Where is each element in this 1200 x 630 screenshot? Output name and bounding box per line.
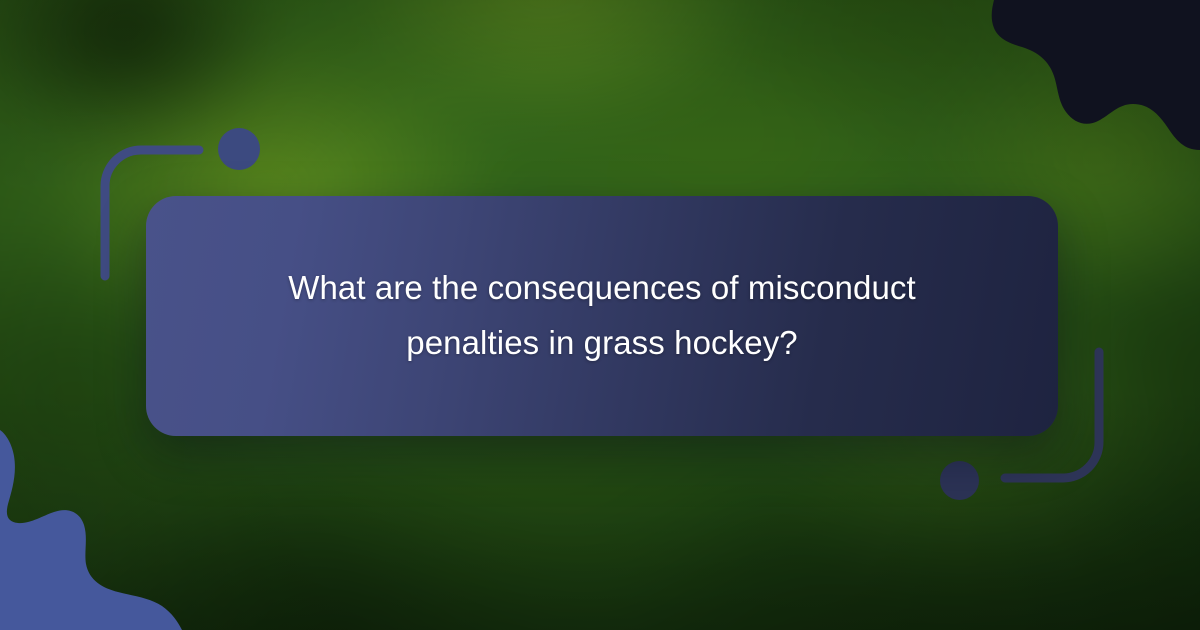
- dot-top-left: [218, 128, 260, 170]
- quote-card-graphic: What are the consequences of misconduct …: [0, 0, 1200, 630]
- question-text: What are the consequences of misconduct …: [232, 261, 972, 371]
- question-card: What are the consequences of misconduct …: [146, 196, 1058, 436]
- dot-bottom-right: [940, 461, 979, 500]
- blob-bottom-left: [0, 430, 240, 630]
- blob-top-right: [970, 0, 1200, 150]
